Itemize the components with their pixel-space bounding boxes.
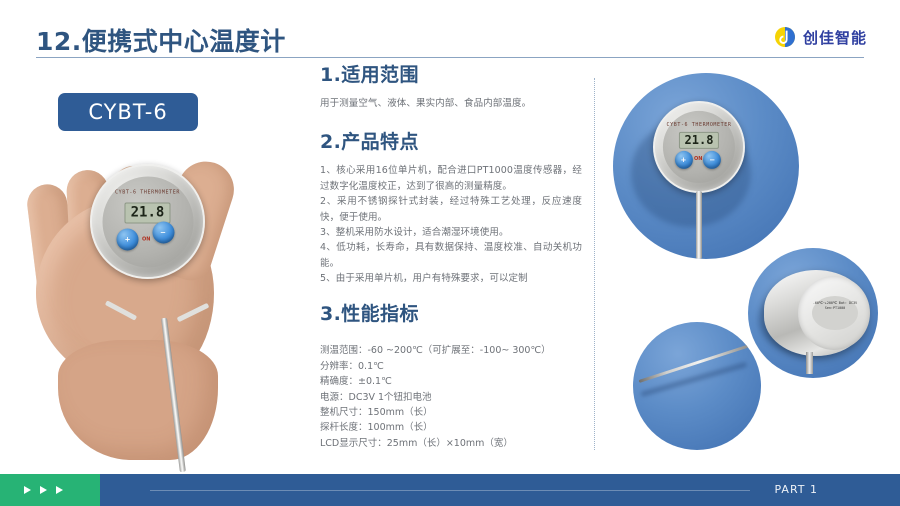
column-divider bbox=[594, 78, 595, 450]
dial-face: CYBT-6 THERMOMETER 21.8 + − ON bbox=[663, 111, 735, 183]
triangle-right-icon bbox=[56, 486, 63, 494]
dial-face: CYBT-6 THERMOMETER 21.8 + − ON bbox=[102, 176, 193, 267]
probe-needle bbox=[696, 191, 702, 259]
spec-item: 测温范围：-60 ~200℃（可扩展至：-100~ 300℃） bbox=[320, 343, 582, 358]
feature-item: 5、由于采用单片机，用户有特殊要求，可以定制 bbox=[320, 271, 582, 286]
footer-rule bbox=[150, 490, 750, 491]
section-heading-1: 1.适用范围 bbox=[320, 60, 582, 87]
minus-button[interactable]: − bbox=[703, 151, 721, 169]
page-footer: PART 1 bbox=[0, 474, 900, 506]
section-specs: 3.性能指标 测温范围：-60 ~200℃（可扩展至：-100~ 300℃） 分… bbox=[320, 299, 582, 451]
spec-item: 整机尺寸：150mm（长） bbox=[320, 405, 582, 420]
needle-shadow bbox=[640, 362, 747, 397]
circle-half-logo-icon bbox=[774, 26, 796, 48]
section-heading-2: 2.产品特点 bbox=[320, 127, 582, 154]
spec-item: LCD显示尺寸：25mm（长）×10mm（宽） bbox=[320, 436, 582, 451]
header-divider bbox=[36, 57, 864, 58]
brand-logo: 创佳智能 bbox=[774, 26, 867, 48]
footer-bar: PART 1 bbox=[100, 474, 900, 506]
stainless-probe-needle-photo bbox=[633, 322, 761, 450]
thermometer-dial: CYBT-6 THERMOMETER 21.8 + − ON bbox=[90, 164, 205, 279]
lcd-display: 21.8 bbox=[124, 202, 170, 223]
model-badge-label: CYBT-6 bbox=[88, 100, 167, 124]
plus-button[interactable]: + bbox=[117, 229, 139, 251]
spec-item: 电源：DC3V 1个钮扣电池 bbox=[320, 390, 582, 405]
triangle-right-icon bbox=[24, 486, 31, 494]
on-label: ON bbox=[694, 156, 702, 162]
dial-brand-text: CYBT-6 THERMOMETER bbox=[667, 122, 732, 128]
feature-item: 2、采用不锈钢探针式封装，经过特殊工艺处理，反应速度快，便于使用。 bbox=[320, 194, 582, 225]
thermometer-dial-front: CYBT-6 THERMOMETER 21.8 + − ON bbox=[653, 101, 745, 193]
palm-lower bbox=[58, 340, 218, 460]
hand-holding-thermometer-photo: CYBT-6 THERMOMETER 21.8 + − ON bbox=[28, 140, 303, 470]
thermometer-front-photo: CYBT-6 THERMOMETER 21.8 + − ON bbox=[613, 73, 799, 259]
section-body-1: 用于测量空气、液体、果实内部、食品内部温度。 bbox=[320, 96, 582, 111]
feature-item: 1、核心采用16位单片机，配合进口PT1000温度传感器，经过数字化温度校正，达… bbox=[320, 163, 582, 194]
section-body-2: 1、核心采用16位单片机，配合进口PT1000温度传感器，经过数字化温度校正，达… bbox=[320, 163, 582, 286]
dial-brand-text: CYBT-6 THERMOMETER bbox=[115, 190, 180, 196]
device-back-body: -60℃~+200℃ Bat: DC3V Sen:PT1000 bbox=[764, 270, 868, 356]
page-title: 12.便携式中心温度计 bbox=[36, 22, 286, 58]
spec-item: 探杆长度：100mm（长） bbox=[320, 420, 582, 435]
lcd-display: 21.8 bbox=[679, 132, 719, 149]
model-badge: CYBT-6 bbox=[58, 93, 198, 131]
spec-item: 精确度：±0.1℃ bbox=[320, 374, 582, 389]
content-column: 1.适用范围 用于测量空气、液体、果实内部、食品内部温度。 2.产品特点 1、核… bbox=[320, 60, 582, 451]
scope-text: 用于测量空气、液体、果实内部、食品内部温度。 bbox=[320, 96, 582, 111]
footer-part-label: PART 1 bbox=[774, 483, 818, 496]
spec-item: 分辨率：0.1℃ bbox=[320, 359, 582, 374]
feature-item: 3、整机采用防水设计，适合潮湿环境使用。 bbox=[320, 225, 582, 240]
device-back-face: -60℃~+200℃ Bat: DC3V Sen:PT1000 bbox=[798, 276, 870, 350]
section-features: 2.产品特点 1、核心采用16位单片机，配合进口PT1000温度传感器，经过数字… bbox=[320, 127, 582, 286]
minus-button[interactable]: − bbox=[152, 221, 174, 243]
on-label: ON bbox=[142, 236, 150, 242]
footer-accent-block bbox=[0, 474, 100, 506]
section-scope: 1.适用范围 用于测量空气、液体、果实内部、食品内部温度。 bbox=[320, 60, 582, 111]
thermometer-back-photo: -60℃~+200℃ Bat: DC3V Sen:PT1000 bbox=[748, 248, 878, 378]
device-spec-label: -60℃~+200℃ Bat: DC3V Sen:PT1000 bbox=[812, 296, 858, 330]
plus-button[interactable]: + bbox=[674, 151, 692, 169]
feature-item: 4、低功耗，长寿命，具有数据保持、温度校准、自动关机功能。 bbox=[320, 240, 582, 271]
brand-name: 创佳智能 bbox=[803, 27, 867, 48]
probe-stem bbox=[806, 352, 813, 374]
triangle-right-icon bbox=[40, 486, 47, 494]
page-header: 12.便携式中心温度计 创佳智能 bbox=[0, 0, 900, 62]
section-heading-3: 3.性能指标 bbox=[320, 299, 582, 326]
